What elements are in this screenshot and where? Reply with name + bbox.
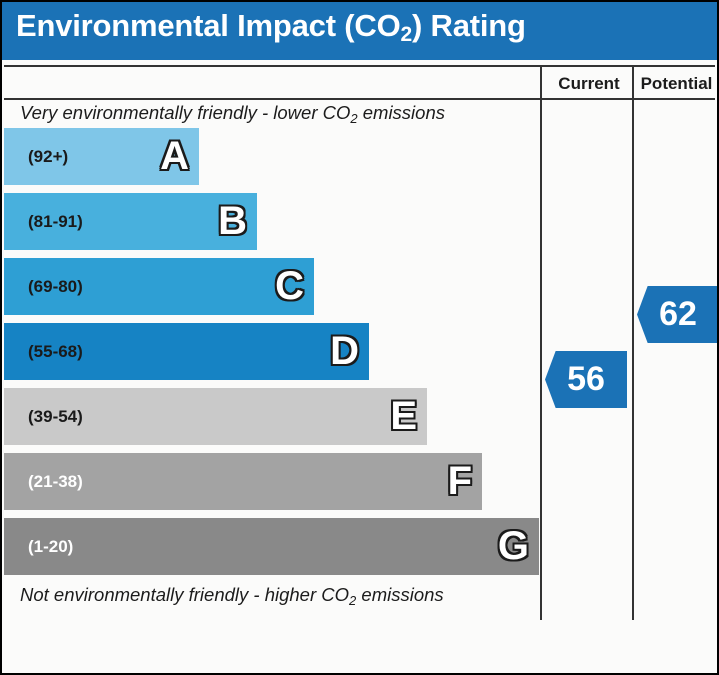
band-letter-d: D xyxy=(330,323,359,380)
band-letter-g: G xyxy=(498,518,529,575)
band-letter-a: A xyxy=(160,128,189,185)
band-letter-f: F xyxy=(448,453,472,510)
chart-grid: Current Potential Very environmentally f… xyxy=(2,60,717,673)
band-letter-c: C xyxy=(275,258,304,315)
band-range-c: (69-80) xyxy=(28,258,83,315)
band-range-e: (39-54) xyxy=(28,388,83,445)
column-divider-left xyxy=(540,65,542,620)
page-title-suffix: ) Rating xyxy=(412,8,526,43)
potential-rating-marker: 62 xyxy=(637,286,719,343)
column-header-potential: Potential xyxy=(636,67,717,100)
column-header-current: Current xyxy=(544,67,634,100)
rating-band-f: (21-38) F xyxy=(4,453,482,510)
band-range-a: (92+) xyxy=(28,128,68,185)
current-rating-marker: 56 xyxy=(545,351,627,408)
chart-title-bar: Environmental Impact (CO2) Rating xyxy=(2,2,719,60)
band-letter-e: E xyxy=(390,388,417,445)
caption-top-suffix: emissions xyxy=(358,102,445,123)
band-area: Very environmentally friendly - lower CO… xyxy=(4,100,540,620)
page-title-prefix: Environmental Impact (CO xyxy=(16,8,401,43)
band-range-d: (55-68) xyxy=(28,323,83,380)
caption-top: Very environmentally friendly - lower CO… xyxy=(20,102,540,124)
caption-top-prefix: Very environmentally friendly - lower CO xyxy=(20,102,350,123)
caption-bottom-suffix: emissions xyxy=(356,584,443,605)
column-divider-right xyxy=(632,65,634,620)
caption-top-subscript: 2 xyxy=(350,111,357,126)
band-range-g: (1-20) xyxy=(28,518,73,575)
rating-band-d: (55-68) D xyxy=(4,323,369,380)
page-title: Environmental Impact (CO2) Rating xyxy=(16,8,526,44)
rating-band-c: (69-80) C xyxy=(4,258,314,315)
column-header-row: Current Potential xyxy=(4,65,715,100)
epc-environmental-impact-chart: Environmental Impact (CO2) Rating Curren… xyxy=(0,0,719,675)
page-title-subscript: 2 xyxy=(401,23,412,46)
caption-bottom: Not environmentally friendly - higher CO… xyxy=(20,584,540,606)
rating-band-a: (92+) A xyxy=(4,128,199,185)
band-letter-b: B xyxy=(218,193,247,250)
rating-band-b: (81-91) B xyxy=(4,193,257,250)
caption-bottom-prefix: Not environmentally friendly - higher CO xyxy=(20,584,349,605)
band-range-f: (21-38) xyxy=(28,453,83,510)
band-range-b: (81-91) xyxy=(28,193,83,250)
caption-bottom-subscript: 2 xyxy=(349,593,356,608)
rating-band-e: (39-54) E xyxy=(4,388,427,445)
rating-band-g: (1-20) G xyxy=(4,518,539,575)
